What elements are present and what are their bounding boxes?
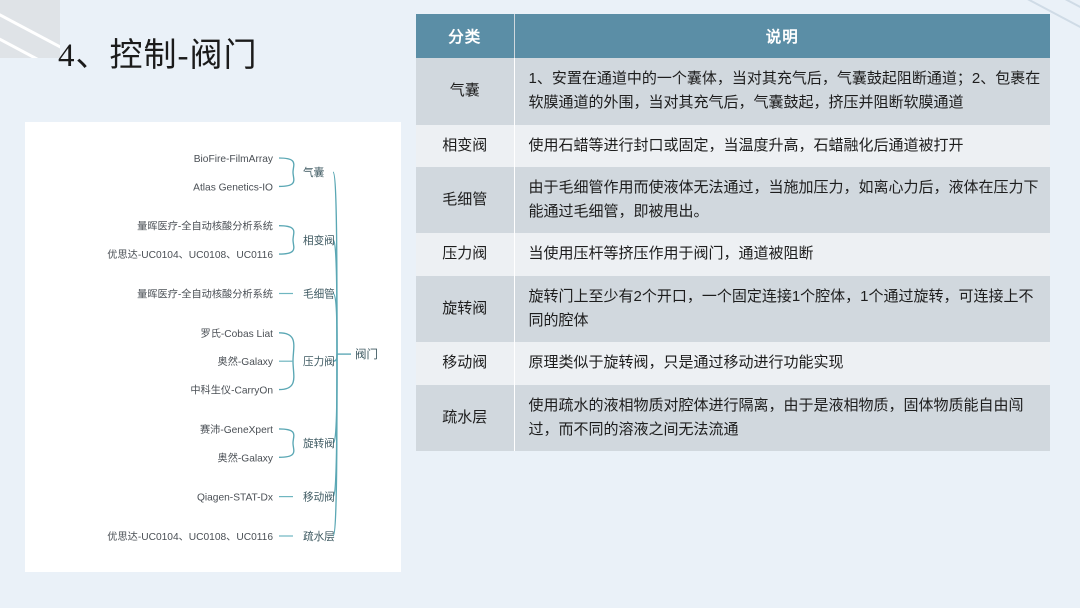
mindmap-branch-label: 相变阀 [303, 234, 335, 247]
mindmap-panel: 气囊BioFire-FilmArrayAtlas Genetics-IO相变阀量… [25, 122, 401, 572]
cell-category: 旋转阀 [416, 276, 514, 343]
table-row: 气囊1、安置在通道中的一个囊体，当对其充气后，气囊鼓起阻断通道；2、包裹在软膜通… [416, 58, 1050, 125]
cell-description: 原理类似于旋转阀，只是通过移动进行功能实现 [514, 342, 1050, 384]
mindmap-leaf-label: Atlas Genetics-IO [193, 182, 273, 193]
cell-category: 疏水层 [416, 385, 514, 452]
cell-category: 移动阀 [416, 342, 514, 384]
table-row: 移动阀原理类似于旋转阀，只是通过移动进行功能实现 [416, 342, 1050, 384]
mindmap-root-label: 阀门 [355, 347, 378, 361]
mindmap-leaf-label: 罗氏-Cobas Liat [201, 328, 274, 340]
cell-category: 相变阀 [416, 125, 514, 167]
mindmap-leaf-label: 奥然-Galaxy [218, 355, 274, 368]
mindmap-branch-label: 毛细管 [303, 287, 335, 300]
table-header-row: 分类 说明 [416, 14, 1050, 58]
mindmap-leaf-label: 优思达-UC0104、UC0108、UC0116 [107, 530, 273, 543]
cell-description: 由于毛细管作用而使液体无法通过，当施加压力，如离心力后，液体在压力下能通过毛细管… [514, 167, 1050, 234]
mindmap-leaf-label: BioFire-FilmArray [194, 154, 274, 165]
mindmap-leaf-label: 量晖医疗-全自动核酸分析系统 [137, 220, 273, 233]
table-row: 毛细管由于毛细管作用而使液体无法通过，当施加压力，如离心力后，液体在压力下能通过… [416, 167, 1050, 234]
table-row: 旋转阀旋转门上至少有2个开口，一个固定连接1个腔体，1个通过旋转，可连接上不同的… [416, 276, 1050, 343]
cell-description: 使用疏水的液相物质对腔体进行隔离，由于是液相物质，固体物质能自由闯过，而不同的溶… [514, 385, 1050, 452]
mindmap-leaf-label: 优思达-UC0104、UC0108、UC0116 [107, 248, 273, 261]
cell-description: 使用石蜡等进行封口或固定，当温度升高，石蜡融化后通道被打开 [514, 125, 1050, 167]
cell-description: 1、安置在通道中的一个囊体，当对其充气后，气囊鼓起阻断通道；2、包裹在软膜通道的… [514, 58, 1050, 125]
mindmap-leaf-label: 赛沛-GeneXpert [200, 423, 273, 436]
table-row: 疏水层使用疏水的液相物质对腔体进行隔离，由于是液相物质，固体物质能自由闯过，而不… [416, 385, 1050, 452]
mindmap-connector [279, 429, 294, 457]
mindmap-branch-label: 移动阀 [303, 491, 335, 504]
mindmap-branch-label: 气囊 [303, 166, 325, 179]
column-header-category: 分类 [416, 14, 514, 58]
mindmap-leaf-label: 中科生仪-CarryOn [190, 384, 273, 397]
mindmap-branch-label: 压力阀 [303, 355, 335, 368]
mindmap-branch-label: 旋转阀 [303, 437, 335, 450]
column-header-description: 说明 [514, 14, 1050, 58]
mindmap-leaf-label: 量晖医疗-全自动核酸分析系统 [137, 287, 273, 300]
mindmap-diagram: 气囊BioFire-FilmArrayAtlas Genetics-IO相变阀量… [25, 122, 401, 572]
mindmap-connector [333, 294, 337, 355]
mindmap-leaf-label: 奥然-Galaxy [218, 451, 274, 464]
cell-category: 气囊 [416, 58, 514, 125]
table-row: 压力阀当使用压杆等挤压作用于阀门，通道被阻断 [416, 233, 1050, 275]
mindmap-connector [279, 226, 294, 254]
slide-canvas: 4、控制-阀门 气囊BioFire-FilmArrayAtlas Genetic… [0, 0, 1080, 608]
page-title: 4、控制-阀门 [58, 28, 258, 76]
cell-description: 当使用压杆等挤压作用于阀门，通道被阻断 [514, 233, 1050, 275]
table-row: 相变阀使用石蜡等进行封口或固定，当温度升高，石蜡融化后通道被打开 [416, 125, 1050, 167]
mindmap-leaf-label: Qiagen-STAT-Dx [197, 493, 273, 504]
mindmap-branch-label: 疏水层 [303, 530, 335, 543]
mindmap-connector [279, 158, 294, 186]
cell-category: 压力阀 [416, 233, 514, 275]
valve-classification-table: 分类 说明 气囊1、安置在通道中的一个囊体，当对其充气后，气囊鼓起阻断通道；2、… [416, 14, 1050, 451]
cell-description: 旋转门上至少有2个开口，一个固定连接1个腔体，1个通过旋转，可连接上不同的腔体 [514, 276, 1050, 343]
corner-decoration-block [0, 0, 60, 58]
mindmap-connector-lines [279, 158, 351, 536]
diagonal-line-icon [984, 0, 1080, 6]
cell-category: 毛细管 [416, 167, 514, 234]
